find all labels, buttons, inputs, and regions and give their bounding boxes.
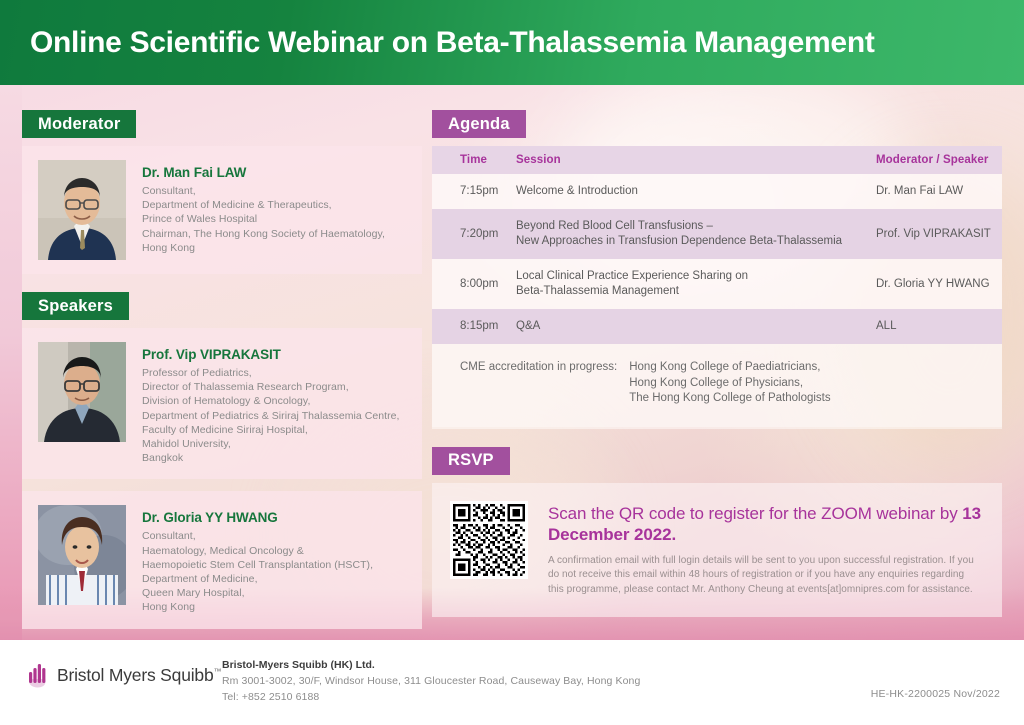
bms-trademark: ™ (213, 667, 221, 676)
agenda-row-0-session-line1: Welcome & Introduction (516, 184, 876, 199)
speaker-2-name: Dr. Gloria YY HWANG (142, 509, 373, 526)
right-column: Agenda Time Session Moderator / Speaker … (432, 110, 1002, 617)
rsvp-fine-print: A confirmation email with full login det… (548, 554, 982, 598)
moderator-name: Dr. Man Fai LAW (142, 164, 385, 181)
cme-list: Hong Kong College of Paediatricians, Hon… (629, 360, 830, 407)
speaker-1-detail-5: Mahidol University, (142, 437, 400, 451)
table-row: 7:15pm Welcome & Introduction Dr. Man Fa… (432, 174, 1002, 209)
rsvp-headline-prefix: by (940, 504, 962, 523)
agenda-col-speaker: Moderator / Speaker (876, 146, 1002, 174)
speaker-2-info: Dr. Gloria YY HWANG Consultant, Haematol… (142, 505, 373, 614)
speaker-2-detail-1: Haematology, Medical Oncology & (142, 544, 373, 558)
moderator-card: Dr. Man Fai LAW Consultant, Department o… (22, 146, 422, 274)
moderator-chip-row: Moderator (22, 110, 422, 138)
table-row: 8:15pm Q&A ALL (432, 309, 1002, 344)
agenda-row-1-speaker: Prof. Vip VIPRAKASIT (876, 209, 1002, 259)
agenda-row-3-session-line1: Q&A (516, 319, 876, 334)
agenda-table: Time Session Moderator / Speaker 7:15pm … (432, 146, 1002, 344)
agenda-row-1-session-line2: New Approaches in Transfusion Dependence… (516, 234, 876, 249)
agenda-row-3-speaker: ALL (876, 309, 1002, 344)
agenda-row-2-session-line2: Beta-Thalassemia Management (516, 284, 876, 299)
cme-item-1: Hong Kong College of Physicians, (629, 376, 830, 392)
speaker-card-2: Dr. Gloria YY HWANG Consultant, Haematol… (22, 491, 422, 628)
speaker-1-info: Prof. Vip VIPRAKASIT Professor of Pediat… (142, 342, 400, 465)
table-row: 7:20pm Beyond Red Blood Cell Transfusion… (432, 209, 1002, 259)
table-row: 8:00pm Local Clinical Practice Experienc… (432, 259, 1002, 309)
moderator-detail-3: Chairman, The Hong Kong Society of Haema… (142, 227, 385, 241)
bms-logo-text: Bristol Myers Squibb™ (57, 665, 221, 686)
speaker-1-detail-0: Professor of Pediatrics, (142, 366, 400, 380)
left-accent-band (0, 85, 22, 640)
cme-item-0: Hong Kong College of Paediatricians, (629, 360, 830, 376)
agenda-chip-row: Agenda (432, 110, 1002, 138)
speaker-1-name: Prof. Vip VIPRAKASIT (142, 346, 400, 363)
footer-address-block: Bristol-Myers Squibb (HK) Ltd. Rm 3001-3… (222, 657, 640, 705)
rsvp-headline: Scan the QR code to register for the ZOO… (548, 503, 982, 545)
speaker-2-detail-4: Queen Mary Hospital, (142, 586, 373, 600)
footer-tel-line: Tel: +852 2510 6188 (222, 689, 640, 705)
qr-code[interactable] (450, 501, 528, 579)
agenda-row-2-session: Local Clinical Practice Experience Shari… (516, 259, 876, 309)
agenda-row-2-time: 8:00pm (432, 259, 516, 309)
agenda-col-session: Session (516, 146, 876, 174)
rsvp-section-label: RSVP (432, 447, 510, 475)
left-column: Moderator Dr. Man Fai (22, 110, 422, 629)
moderator-info: Dr. Man Fai LAW Consultant, Department o… (142, 160, 385, 260)
webinar-poster: Online Scientific Webinar on Beta-Thalas… (0, 0, 1024, 725)
speakers-section-label: Speakers (22, 292, 129, 320)
speaker-2-photo (38, 505, 126, 605)
bms-logo: Bristol Myers Squibb™ (28, 662, 221, 688)
agenda-row-1-session: Beyond Red Blood Cell Transfusions – New… (516, 209, 876, 259)
speaker-1-detail-3: Department of Pediatrics & Siriraj Thala… (142, 409, 400, 423)
bms-logo-word: Bristol Myers Squibb (57, 665, 213, 685)
speakers-chip-row: Speakers (22, 292, 422, 320)
speaker-2-detail-2: Haemopoietic Stem Cell Transplantation (… (142, 558, 373, 572)
footer-address-line: Rm 3001-3002, 30/F, Windsor House, 311 G… (222, 673, 640, 689)
agenda-row-3-session: Q&A (516, 309, 876, 344)
agenda-section-label: Agenda (432, 110, 526, 138)
agenda-row-3-time: 8:15pm (432, 309, 516, 344)
agenda-row-1-time: 7:20pm (432, 209, 516, 259)
cme-label: CME accreditation in progress: (460, 360, 617, 407)
poster-header: Online Scientific Webinar on Beta-Thalas… (0, 0, 1024, 85)
rsvp-chip-row: RSVP (432, 447, 1002, 475)
speaker-card-1: Prof. Vip VIPRAKASIT Professor of Pediat… (22, 328, 422, 479)
cme-note: CME accreditation in progress: Hong Kong… (432, 344, 1002, 427)
footer-company-name: Bristol-Myers Squibb (HK) Ltd. (222, 657, 640, 673)
page-title: Online Scientific Webinar on Beta-Thalas… (30, 28, 875, 58)
moderator-section-label: Moderator (22, 110, 136, 138)
moderator-detail-1: Department of Medicine & Therapeutics, (142, 198, 385, 212)
rsvp-panel: Scan the QR code to register for the ZOO… (432, 483, 1002, 618)
rsvp-headline-line1: Scan the QR code to register for the ZOO… (548, 504, 935, 523)
agenda-row-0-speaker: Dr. Man Fai LAW (876, 174, 1002, 209)
moderator-detail-4: Hong Kong (142, 241, 385, 255)
poster-footer: Bristol Myers Squibb™ Bristol-Myers Squi… (0, 640, 1024, 725)
speaker-1-detail-1: Director of Thalassemia Research Program… (142, 380, 400, 394)
moderator-photo (38, 160, 126, 260)
cme-item-2: The Hong Kong College of Pathologists (629, 391, 830, 407)
agenda-row-0-session: Welcome & Introduction (516, 174, 876, 209)
agenda-row-2-session-line1: Local Clinical Practice Experience Shari… (516, 269, 876, 284)
speaker-2-detail-0: Consultant, (142, 529, 373, 543)
speaker-1-photo (38, 342, 126, 442)
footer-document-code: HE-HK-2200025 Nov/2022 (871, 688, 1000, 700)
agenda-row-0-time: 7:15pm (432, 174, 516, 209)
spacer-moderator-speakers (22, 274, 422, 292)
moderator-detail-2: Prince of Wales Hospital (142, 212, 385, 226)
speaker-1-detail-2: Division of Hematology & Oncology, (142, 394, 400, 408)
speaker-2-detail-5: Hong Kong (142, 600, 373, 614)
agenda-row-1-session-line1: Beyond Red Blood Cell Transfusions – (516, 219, 876, 234)
spacer-agenda-rsvp (432, 429, 1002, 447)
speaker-1-detail-6: Bangkok (142, 451, 400, 465)
rsvp-text: Scan the QR code to register for the ZOO… (548, 501, 982, 598)
agenda-col-time: Time (432, 146, 516, 174)
agenda-header-row: Time Session Moderator / Speaker (432, 146, 1002, 174)
speaker-1-detail-4: Faculty of Medicine Siriraj Hospital, (142, 423, 400, 437)
bms-flame-icon (28, 662, 50, 688)
moderator-detail-0: Consultant, (142, 184, 385, 198)
agenda-panel: Time Session Moderator / Speaker 7:15pm … (432, 146, 1002, 429)
speaker-2-detail-3: Department of Medicine, (142, 572, 373, 586)
agenda-row-2-speaker: Dr. Gloria YY HWANG (876, 259, 1002, 309)
spacer-speakers (22, 479, 422, 491)
